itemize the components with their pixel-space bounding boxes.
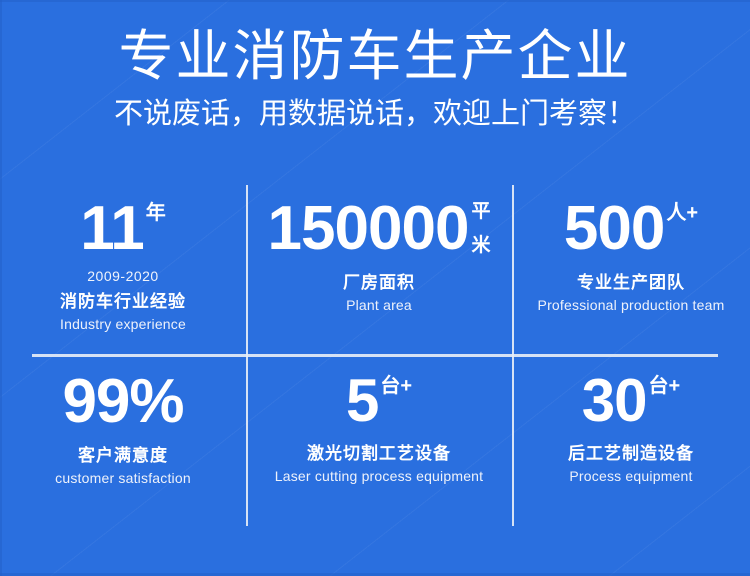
stat-unit: 年: [146, 203, 166, 223]
stat-label-cn: 专业生产团队: [538, 268, 725, 293]
stat-value-line: 11 年: [80, 199, 166, 259]
stat-label-cn: 消防车行业经验: [60, 287, 186, 312]
stat-label-en: Laser cutting process equipment: [275, 468, 484, 484]
stat-cell-industry-experience: 11 年 2009-2020 消防车行业经验 Industry experien…: [0, 185, 246, 354]
stat-cell-production-team: 500 人+ 专业生产团队 Professional production te…: [512, 185, 750, 354]
stat-value-line: 99%: [62, 372, 183, 432]
stat-labels: 专业生产团队 Professional production team: [538, 268, 725, 313]
stats-grid: 11 年 2009-2020 消防车行业经验 Industry experien…: [0, 185, 750, 527]
stat-labels: 激光切割工艺设备 Laser cutting process equipment: [275, 439, 484, 484]
stat-unit: 人+: [666, 203, 698, 223]
stat-value-line: 30 台+: [582, 372, 680, 430]
stat-labels: 后工艺制造设备 Process equipment: [568, 439, 694, 484]
stat-unit: 台+: [649, 376, 681, 396]
stat-value-line: 150000 平 米: [268, 199, 491, 259]
stat-label-en: Industry experience: [60, 316, 186, 332]
stat-number: 99%: [62, 372, 183, 432]
stat-label-cn: 厂房面积: [343, 268, 415, 293]
stat-value-line: 500 人+: [564, 199, 698, 259]
stat-number: 11: [80, 199, 144, 259]
stat-cell-plant-area: 150000 平 米 厂房面积 Plant area: [246, 185, 512, 354]
stat-cell-customer-satisfaction: 99% 客户满意度 customer satisfaction: [0, 354, 246, 527]
stat-label-cn: 后工艺制造设备: [568, 439, 694, 464]
promo-banner: 专业消防车生产企业 不说废话，用数据说话，欢迎上门考察！ 11 年 2009-2…: [0, 0, 750, 576]
stat-label-cn: 客户满意度: [55, 441, 191, 466]
stat-number: 500: [564, 199, 664, 259]
banner-header: 专业消防车生产企业 不说废话，用数据说话，欢迎上门考察！: [0, 0, 750, 132]
stat-number: 5: [346, 372, 378, 430]
stat-label-en: Plant area: [343, 297, 415, 313]
stat-label-en: Process equipment: [568, 468, 694, 484]
stat-label-en: Professional production team: [538, 297, 725, 313]
headline: 专业消防车生产企业: [0, 27, 750, 86]
stat-labels: 厂房面积 Plant area: [343, 268, 415, 313]
stat-unit-top: 平: [471, 202, 490, 222]
stat-label-cn: 激光切割工艺设备: [275, 439, 484, 464]
stat-cell-laser-cutting-equipment: 5 台+ 激光切割工艺设备 Laser cutting process equi…: [246, 354, 512, 527]
stat-labels: 2009-2020 消防车行业经验 Industry experience: [60, 268, 186, 332]
stat-unit-stacked: 平 米: [471, 199, 490, 259]
stat-number: 30: [582, 372, 647, 430]
stat-label-en: customer satisfaction: [55, 470, 191, 486]
stat-unit-bottom: 米: [471, 236, 490, 256]
stat-value-line: 5 台+: [346, 372, 412, 430]
subheadline: 不说废话，用数据说话，欢迎上门考察！: [0, 97, 750, 132]
stat-cell-process-equipment: 30 台+ 后工艺制造设备 Process equipment: [512, 354, 750, 527]
stat-meta: 2009-2020: [60, 268, 186, 284]
stat-unit: 台+: [380, 376, 412, 396]
stat-number: 150000: [268, 199, 469, 259]
stat-labels: 客户满意度 customer satisfaction: [55, 441, 191, 486]
